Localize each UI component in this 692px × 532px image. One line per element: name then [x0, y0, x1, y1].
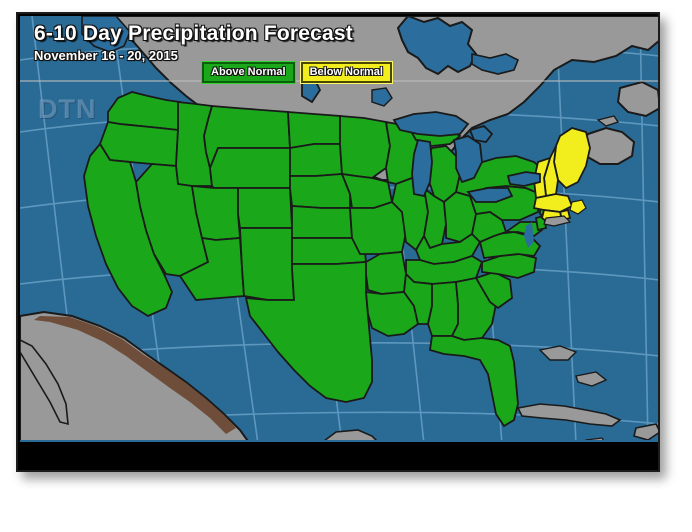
state-massachusetts: [534, 194, 572, 212]
state-alabama: [428, 282, 458, 336]
state-new-mexico: [240, 228, 294, 300]
state-arkansas: [366, 252, 406, 294]
map-viewport[interactable]: DTN 6-10 Day Precipitation Forecast Nove…: [20, 16, 660, 444]
map-footer-bar: [18, 442, 658, 470]
legend-item-above-normal[interactable]: Above Normal: [202, 62, 295, 83]
legend-item-below-normal[interactable]: Below Normal: [301, 62, 392, 83]
state-wyoming: [210, 148, 290, 188]
legend: Above Normal Below Normal: [202, 62, 392, 83]
state-south-dakota: [290, 144, 342, 176]
state-kansas: [292, 206, 352, 238]
state-colorado: [238, 188, 292, 228]
state-north-dakota: [288, 112, 340, 148]
state-nebraska: [290, 174, 350, 208]
screenshot-root: DTN 6-10 Day Precipitation Forecast Nove…: [0, 0, 692, 532]
state-minnesota: [340, 116, 390, 178]
lake-ontario: [508, 172, 540, 186]
state-missouri: [350, 202, 406, 254]
forecast-map-frame[interactable]: DTN 6-10 Day Precipitation Forecast Nove…: [16, 12, 660, 472]
